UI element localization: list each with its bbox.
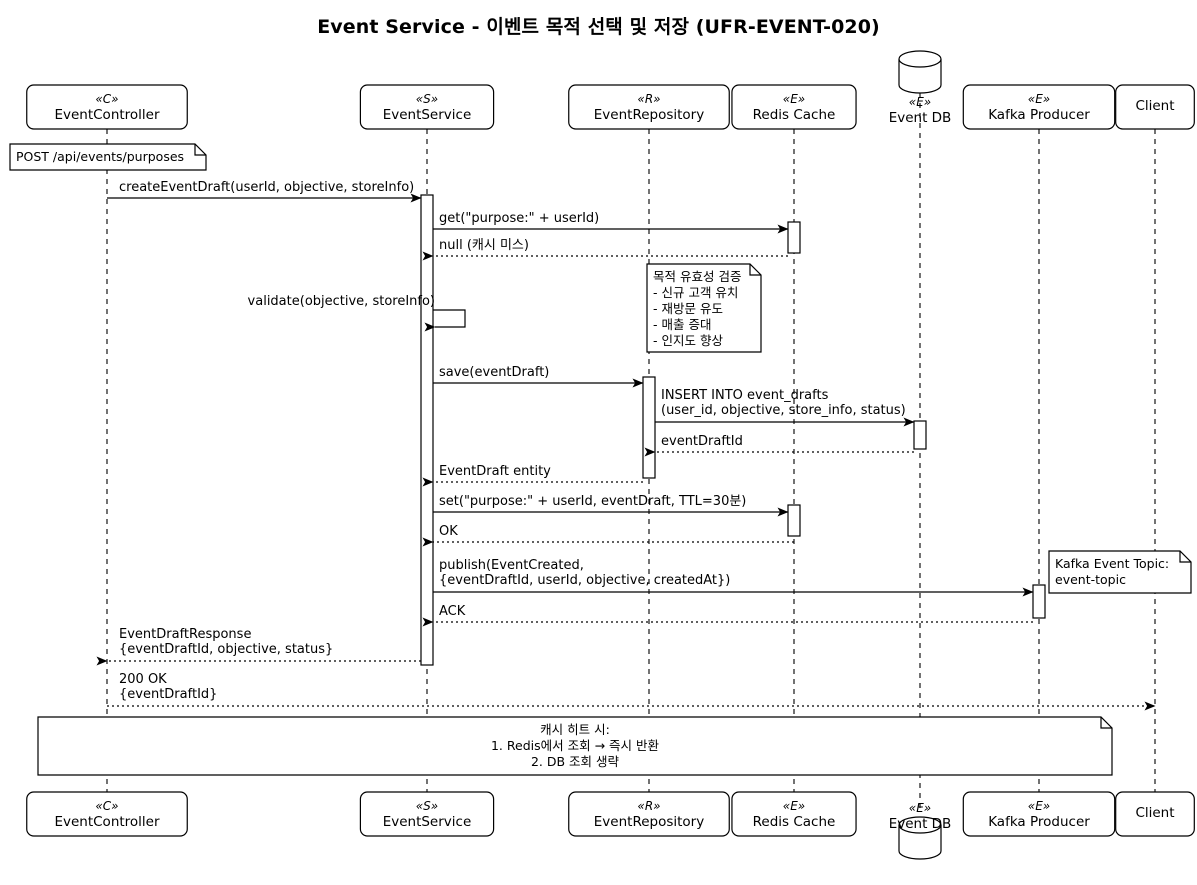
participant-stereotype: «E» xyxy=(732,91,856,107)
note-text-n1: POST /api/events/purposes xyxy=(16,149,200,165)
participant-label-kafka: «E»Kafka Producer xyxy=(963,91,1114,123)
participant-label-client: Client xyxy=(1116,98,1195,114)
participant-stereotype: «S» xyxy=(360,798,493,814)
note-text-n4: 캐시 히트 시: 1. Redis에서 조회 → 즉시 반환 2. DB 조회 … xyxy=(44,722,1106,770)
lifelines-group xyxy=(107,93,1155,812)
activation-bar-kafka xyxy=(1033,585,1045,618)
participant-name: Redis Cache xyxy=(753,107,836,123)
participant-stereotype: «R» xyxy=(569,798,730,814)
participant-database-eventdb xyxy=(899,51,941,93)
participant-name: EventController xyxy=(54,107,159,123)
message-label-m5: save(eventDraft) xyxy=(439,365,549,380)
message-label-m4: validate(objective, storeInfo) xyxy=(248,294,435,309)
participant-label-repository: «R»EventRepository xyxy=(569,91,730,123)
participant-label-eventdb: «E»Event DB xyxy=(865,94,975,126)
participant-label-repository: «R»EventRepository xyxy=(569,798,730,830)
participant-stereotype: «E» xyxy=(963,798,1114,814)
sequence-diagram-canvas: Event Service - 이벤트 목적 선택 및 저장 (UFR-EVEN… xyxy=(0,0,1197,885)
message-label-m9: set("purpose:" + userId, eventDraft, TTL… xyxy=(439,494,746,509)
message-label-m8: EventDraft entity xyxy=(439,464,551,479)
participant-label-eventdb: «E»Event DB xyxy=(865,800,975,832)
participant-label-redis: «E»Redis Cache xyxy=(732,91,856,123)
message-arrow-m4 xyxy=(433,310,465,327)
message-label-m7: eventDraftId xyxy=(661,434,743,449)
participant-stereotype: «S» xyxy=(360,91,493,107)
message-label-m11: publish(EventCreated, {eventDraftId, use… xyxy=(439,558,730,588)
participant-label-kafka: «E»Kafka Producer xyxy=(963,798,1114,830)
participant-label-controller: «C»EventController xyxy=(27,798,188,830)
participant-stereotype: «E» xyxy=(865,800,975,816)
participant-stereotype: «C» xyxy=(27,798,188,814)
participant-stereotype: «E» xyxy=(963,91,1114,107)
participant-label-service: «S»EventService xyxy=(360,91,493,123)
activation-bar-redis xyxy=(788,222,800,253)
participant-name: Kafka Producer xyxy=(988,107,1090,123)
message-label-m14: 200 OK {eventDraftId} xyxy=(119,672,217,702)
participant-name: Event DB xyxy=(889,110,952,126)
activation-bar-repository xyxy=(643,377,655,478)
note-text-n3: Kafka Event Topic: event-topic xyxy=(1055,556,1185,588)
participant-name: Kafka Producer xyxy=(988,814,1090,830)
message-label-m10: OK xyxy=(439,524,458,539)
participant-name: Event DB xyxy=(889,816,952,832)
participant-name: Client xyxy=(1135,805,1174,821)
participant-stereotype: «E» xyxy=(865,94,975,110)
activation-bar-eventdb xyxy=(914,421,926,449)
message-label-m6: INSERT INTO event_drafts (user_id, objec… xyxy=(661,388,906,418)
note-text-n2: 목적 유효성 검증 - 신규 고객 유치 - 재방문 유도 - 매출 증대 - … xyxy=(653,269,755,349)
participant-name: EventRepository xyxy=(594,107,704,123)
participant-name: Redis Cache xyxy=(753,814,836,830)
participant-name: EventController xyxy=(54,814,159,830)
activation-bar-redis xyxy=(788,505,800,536)
message-label-m3: null (캐시 미스) xyxy=(439,238,529,253)
activation-bar-service xyxy=(421,195,433,665)
participant-label-controller: «C»EventController xyxy=(27,91,188,123)
participant-stereotype: «C» xyxy=(27,91,188,107)
participant-stereotype: «R» xyxy=(569,91,730,107)
participant-label-redis: «E»Redis Cache xyxy=(732,798,856,830)
participant-name: EventService xyxy=(383,107,472,123)
participant-stereotype: «E» xyxy=(732,798,856,814)
message-label-m1: createEventDraft(userId, objective, stor… xyxy=(119,180,414,195)
participant-label-client: Client xyxy=(1116,805,1195,821)
participant-label-service: «S»EventService xyxy=(360,798,493,830)
participant-name: Client xyxy=(1135,98,1174,114)
participant-name: EventService xyxy=(383,814,472,830)
message-label-m2: get("purpose:" + userId) xyxy=(439,211,599,226)
participant-name: EventRepository xyxy=(594,814,704,830)
message-label-m13: EventDraftResponse {eventDraftId, object… xyxy=(119,627,333,657)
message-label-m12: ACK xyxy=(439,604,465,619)
